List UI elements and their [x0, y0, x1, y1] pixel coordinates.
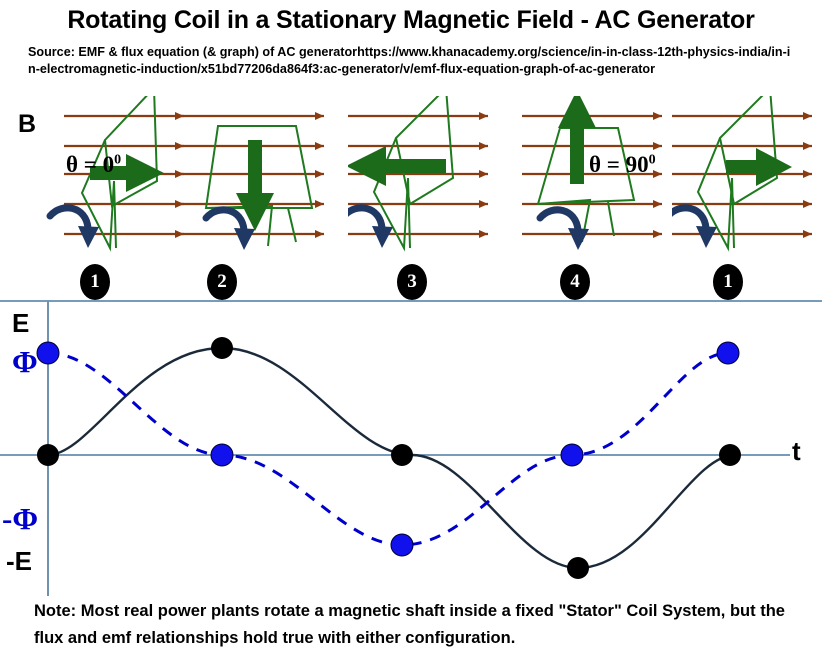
emf-marker-3	[391, 444, 413, 466]
footer-note: Note: Most real power plants rotate a ma…	[34, 598, 794, 652]
coil-panel-1-graphic	[42, 96, 194, 261]
coil-normal-arrow-right-icon	[726, 148, 792, 186]
step-badge-3: 3	[397, 264, 427, 300]
flux-marker-1	[37, 342, 59, 364]
y-axis-label-neg-phi: -Φ	[2, 501, 38, 537]
y-axis-label-E: E	[12, 308, 29, 339]
diagram-page: Rotating Coil in a Stationary Magnetic F…	[0, 0, 822, 669]
coil-panel-5-graphic	[672, 96, 822, 261]
flux-marker-5	[717, 342, 739, 364]
step-badge-5: 1	[713, 264, 743, 300]
emf-marker-2	[211, 337, 233, 359]
coil-panel-5	[672, 96, 822, 256]
coil-panel-3	[348, 96, 500, 256]
emf-marker-4	[567, 557, 589, 579]
graph-svg	[0, 296, 822, 596]
coil-panel-3-graphic	[348, 96, 500, 261]
page-title: Rotating Coil in a Stationary Magnetic F…	[0, 6, 822, 35]
y-axis-label-phi: Φ	[12, 344, 38, 380]
coil-panel-2-graphic	[176, 96, 328, 261]
x-axis-label-t: t	[792, 436, 801, 467]
flux-marker-2	[211, 444, 233, 466]
emf-flux-graph: E Φ -Φ -E t	[0, 296, 822, 596]
theta-label-panel-1: θ = 00	[66, 152, 121, 178]
flux-marker-3	[391, 534, 413, 556]
step-badge-1: 1	[80, 264, 110, 300]
coil-normal-arrow-left-icon	[348, 146, 446, 186]
y-axis-label-neg-E: -E	[6, 546, 32, 577]
emf-marker-5	[719, 444, 741, 466]
theta-label-panel-4: θ = 900	[589, 152, 656, 178]
field-lines	[672, 112, 812, 238]
flux-marker-4	[561, 444, 583, 466]
coil-panel-4-graphic	[522, 96, 674, 261]
rotation-arrow-icon	[540, 210, 589, 250]
coil-panel-2	[176, 96, 328, 256]
source-citation: Source: EMF & flux equation (& graph) of…	[28, 44, 796, 78]
coil-panel-band: B	[0, 96, 822, 296]
magnetic-field-label: B	[18, 110, 36, 139]
step-badge-2: 2	[207, 264, 237, 300]
emf-marker-1	[37, 444, 59, 466]
step-badge-4: 4	[560, 264, 590, 300]
